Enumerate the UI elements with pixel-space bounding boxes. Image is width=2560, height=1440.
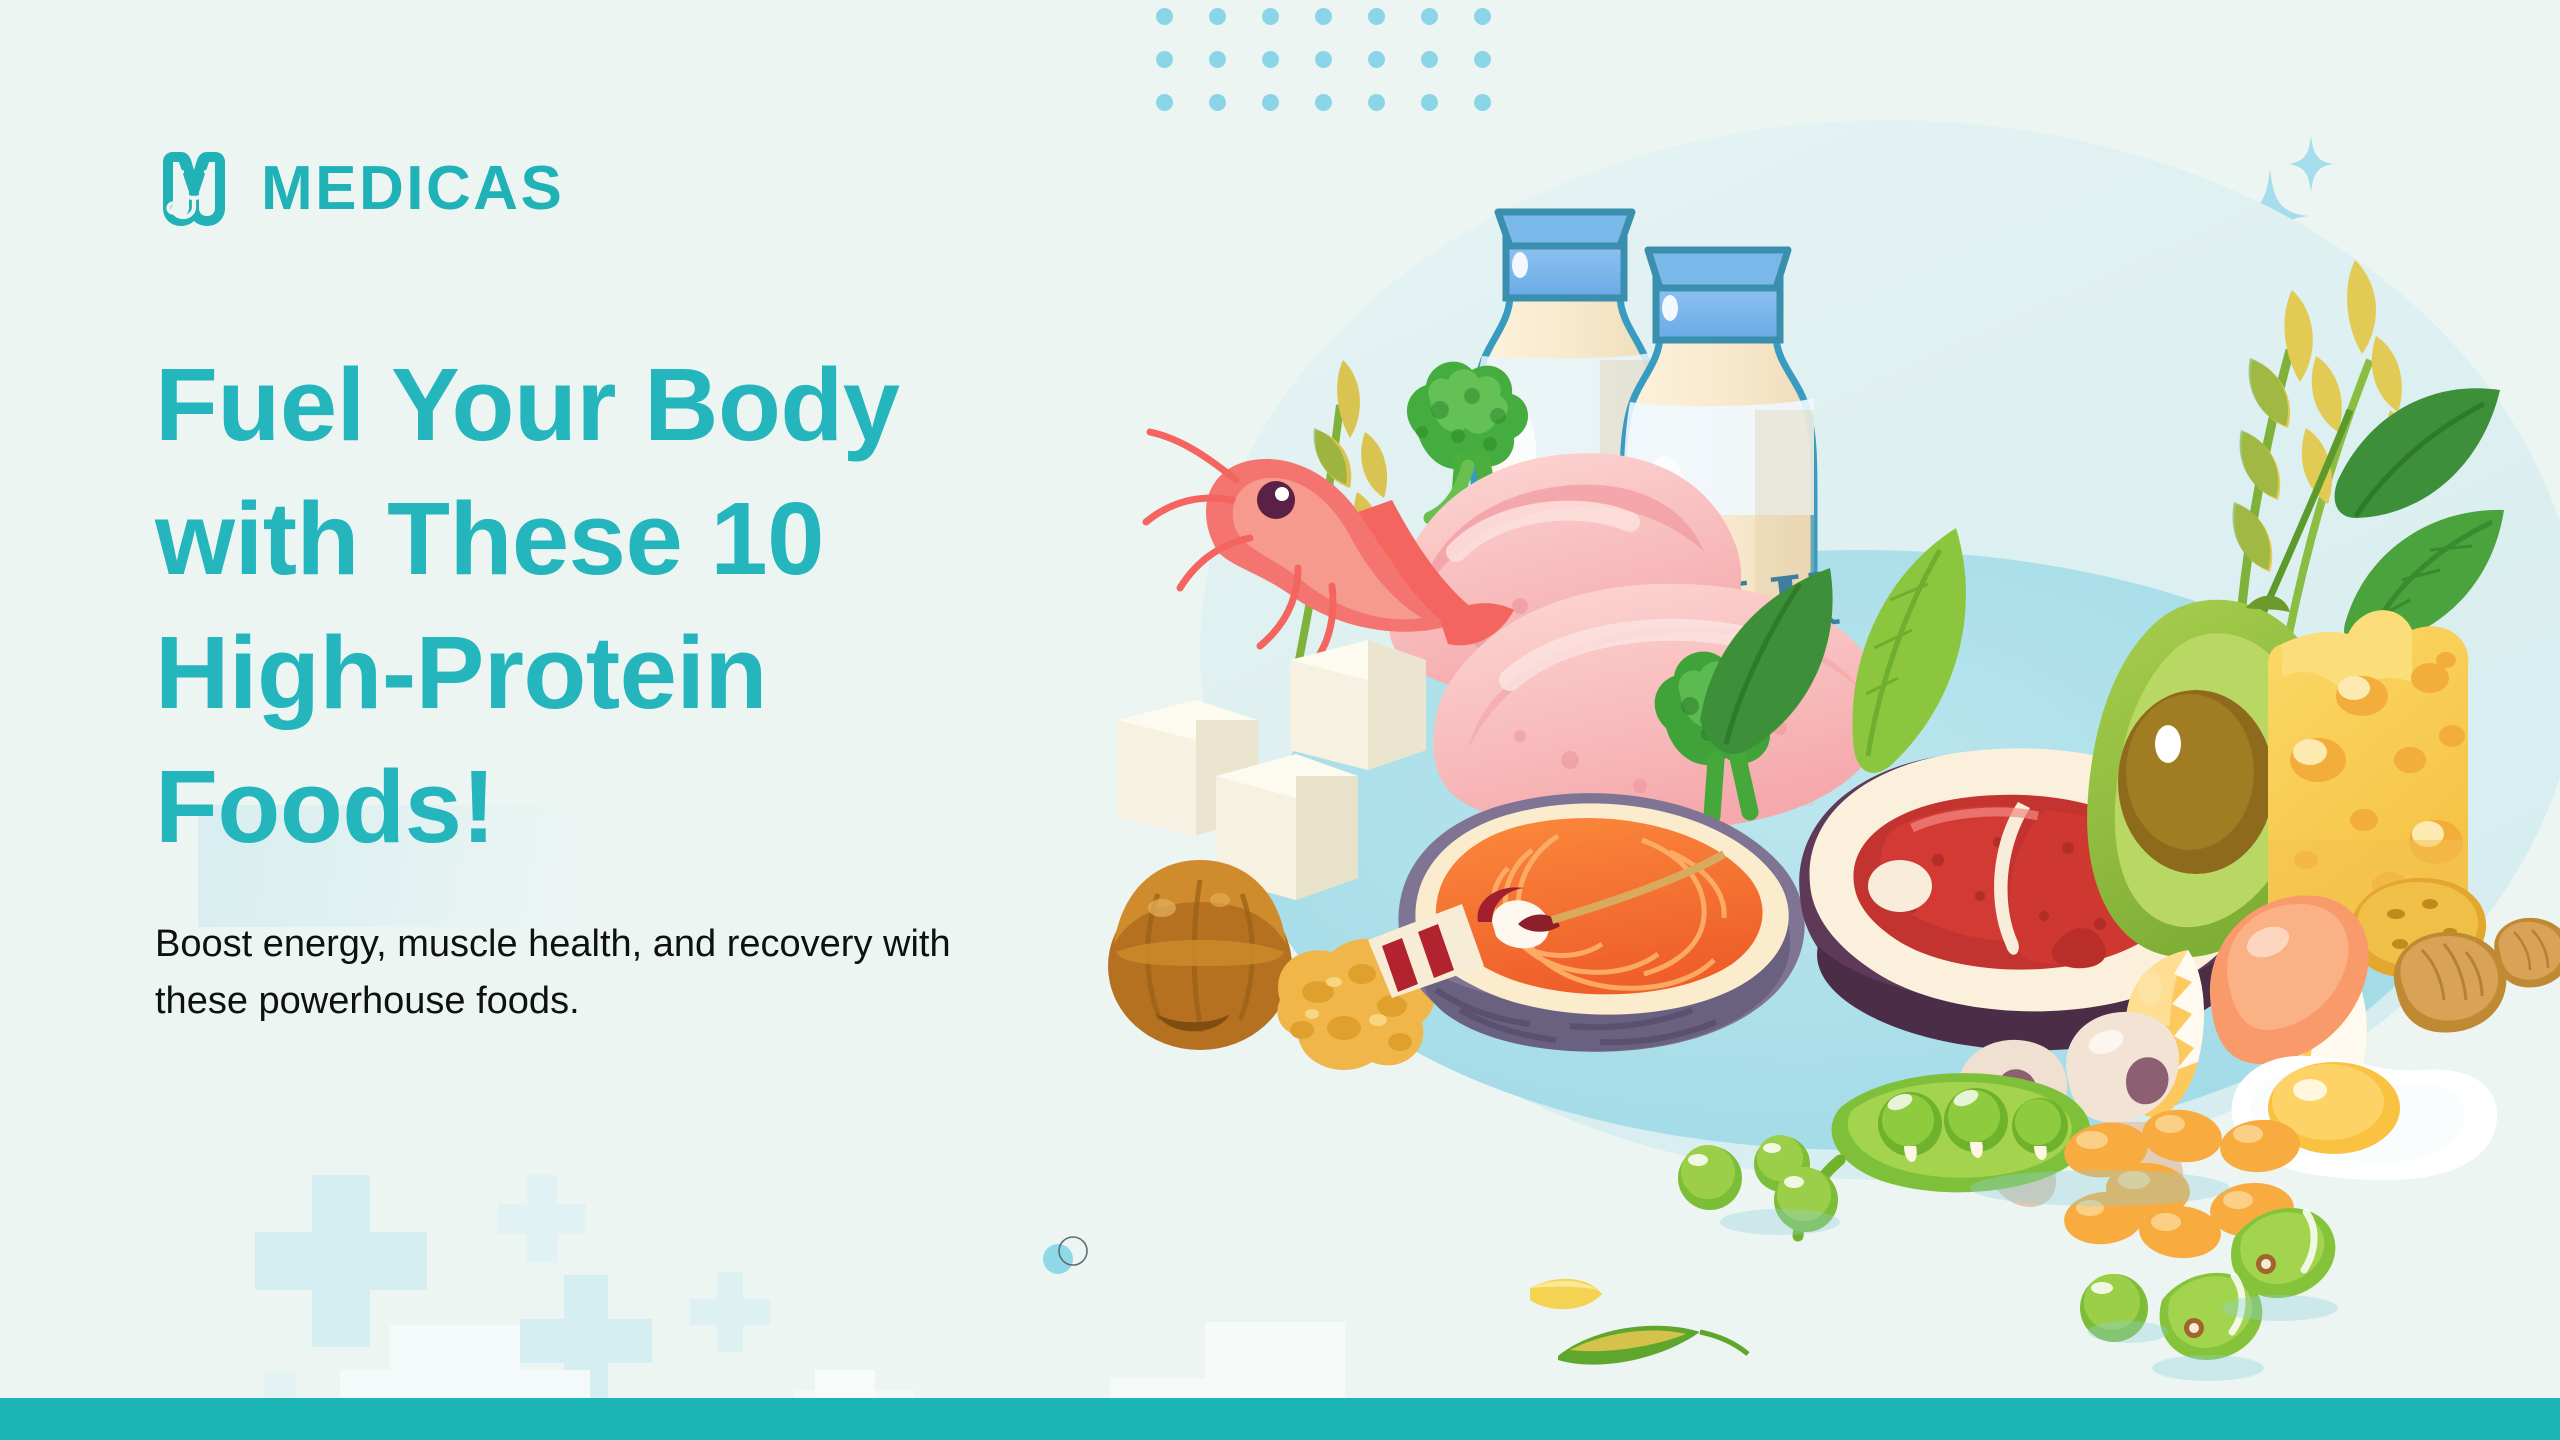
page-title: Fuel Your Body with These 10 High-Protei…: [155, 338, 1055, 874]
grid-dot: [1368, 8, 1385, 25]
grid-dot: [1474, 8, 1491, 25]
wheat-leaf: [1558, 1326, 1748, 1365]
headline-line-4: Foods!: [155, 740, 1055, 874]
headline-line-3: High-Protein: [155, 606, 1055, 740]
hero-subheadline: Boost energy, muscle health, and recover…: [155, 916, 955, 1032]
stethoscope-m-monogram-icon: [155, 150, 233, 228]
wheat-grain: [1530, 1279, 1602, 1309]
medical-cross-large: [255, 1175, 427, 1347]
footer-accent-bar: [0, 1398, 2560, 1440]
brand-logo[interactable]: MEDICAS: [155, 150, 1055, 228]
promo-banner: MEDICAS Fuel Your Body with These 10 Hig…: [0, 0, 2560, 1440]
grid-dot: [1315, 8, 1332, 25]
headline-line-2: with These 10: [155, 472, 1055, 606]
grid-dot: [1421, 8, 1438, 25]
grid-dot: [1156, 8, 1173, 25]
high-protein-foods-illustration: MILK MILK: [1100, 60, 2560, 1390]
capsule-circles-icon: [1040, 1232, 1096, 1278]
grid-dot: [1209, 8, 1226, 25]
brand-name: MEDICAS: [261, 158, 564, 220]
medical-cross-tiny: [690, 1272, 770, 1352]
medical-cross-small: [498, 1175, 586, 1263]
headline-line-1: Fuel Your Body: [155, 338, 1055, 472]
grid-dot: [1262, 8, 1279, 25]
